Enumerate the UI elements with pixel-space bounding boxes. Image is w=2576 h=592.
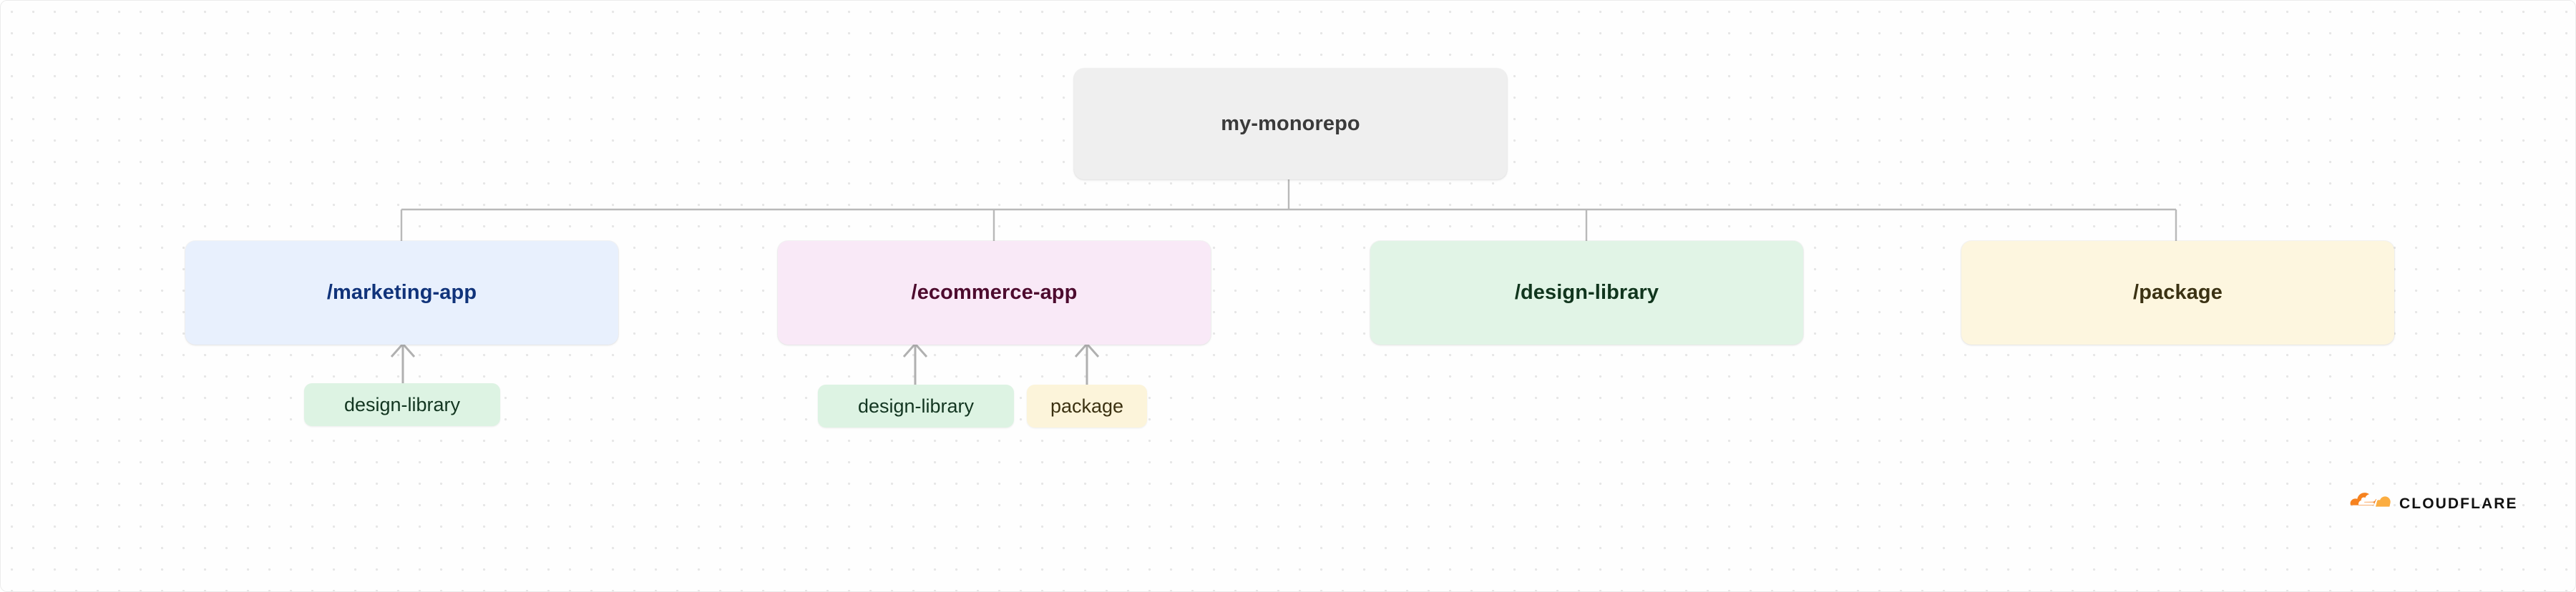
node-label: /design-library <box>1515 281 1659 305</box>
node-ecommerce-app[interactable]: /ecommerce-app <box>778 241 1211 345</box>
node-label: /package <box>2133 281 2223 305</box>
cloudflare-logo: CLOUDFLARE <box>2350 491 2518 516</box>
node-package[interactable]: /package <box>1961 241 2394 345</box>
dependency-pill-label: package <box>1050 395 1123 418</box>
cloudflare-cloud-icon <box>2350 491 2391 516</box>
dependency-arrow-marketing-design-library <box>391 344 414 385</box>
dependency-pill-marketing-design-library[interactable]: design-library <box>304 383 500 426</box>
dependency-pill-ecommerce-design-library[interactable]: design-library <box>818 385 1014 428</box>
dependency-arrow-ecommerce-design-library <box>904 344 927 387</box>
diagram-canvas: my-monorepo /marketing-app /ecommerce-ap… <box>0 0 2576 592</box>
dependency-pill-label: design-library <box>858 395 974 418</box>
node-label: /marketing-app <box>327 281 477 305</box>
node-label: my-monorepo <box>1221 112 1360 136</box>
dependency-pill-ecommerce-package[interactable]: package <box>1027 385 1147 428</box>
node-marketing-app[interactable]: /marketing-app <box>185 241 618 345</box>
node-my-monorepo[interactable]: my-monorepo <box>1074 69 1507 179</box>
node-design-library[interactable]: /design-library <box>1370 241 1803 345</box>
cloudflare-wordmark: CLOUDFLARE <box>2399 495 2518 513</box>
node-label: /ecommerce-app <box>912 281 1078 305</box>
dependency-arrow-ecommerce-package <box>1075 344 1098 387</box>
dependency-pill-label: design-library <box>344 394 460 416</box>
